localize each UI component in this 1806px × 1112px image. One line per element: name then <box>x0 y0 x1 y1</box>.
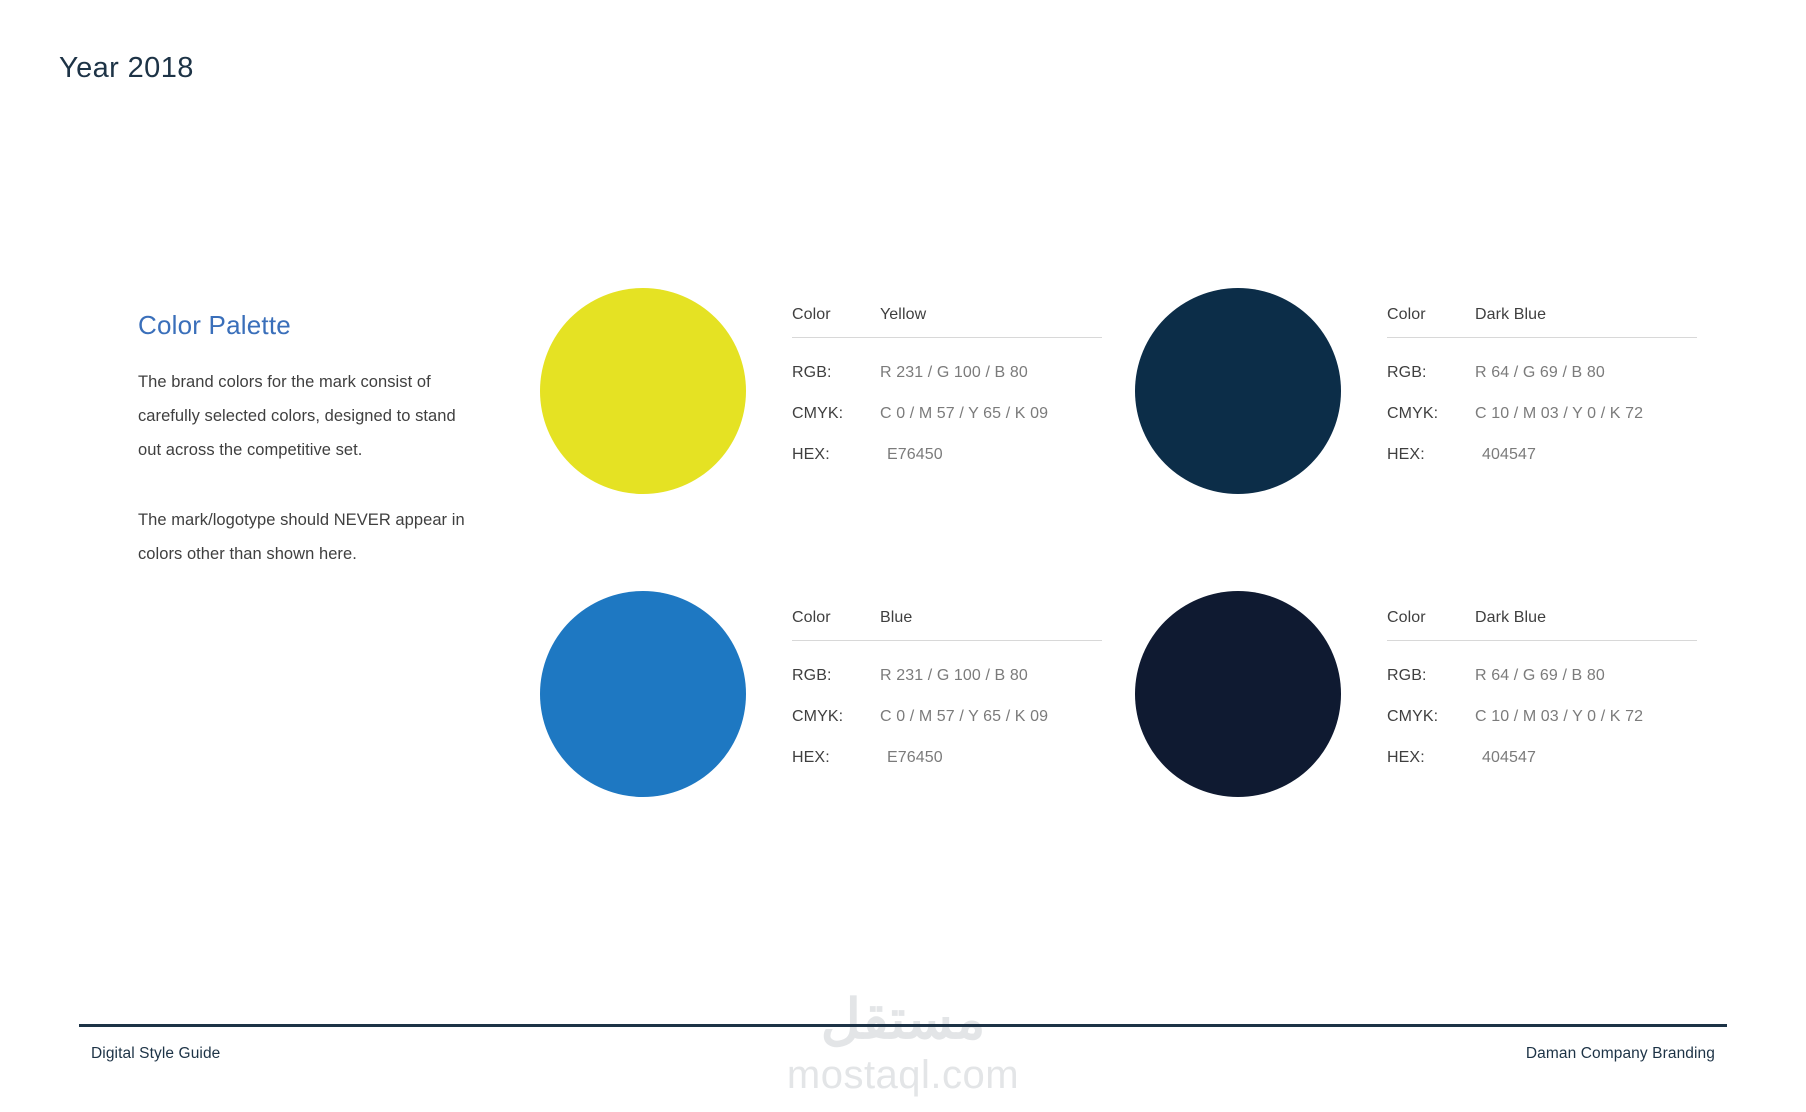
spec-header: Color Dark Blue <box>1387 306 1697 338</box>
spec-value-color-name: Dark Blue <box>1475 609 1546 627</box>
watermark-logo: مستقل mostaql.com <box>0 988 1806 1098</box>
spec-label-hex: HEX: <box>1387 446 1475 464</box>
spec-value-rgb: R 64 / G 69 / B 80 <box>1475 364 1605 382</box>
page-title: Year 2018 <box>59 52 194 85</box>
section-heading: Color Palette <box>138 310 468 341</box>
watermark-arabic-text: مستقل <box>821 988 986 1050</box>
color-circle-yellow <box>540 288 746 494</box>
intro-paragraph-2: The mark/logotype should NEVER appear in… <box>138 503 468 571</box>
spec-label-color: Color <box>1387 306 1475 324</box>
color-spec-yellow: Color Yellow RGB: R 231 / G 100 / B 80 C… <box>792 306 1102 464</box>
spec-label-cmyk: CMYK: <box>1387 708 1475 726</box>
spec-label-rgb: RGB: <box>1387 667 1475 685</box>
color-circle-dark-blue-top <box>1135 288 1341 494</box>
spec-value-hex: E76450 <box>880 749 943 767</box>
style-guide-page: Year 2018 Color Palette The brand colors… <box>0 0 1806 1112</box>
spec-label-rgb: RGB: <box>792 364 880 382</box>
spec-row-hex: HEX: 404547 <box>1387 749 1697 767</box>
spec-row-hex: HEX: E76450 <box>792 446 1102 464</box>
spec-label-hex: HEX: <box>792 446 880 464</box>
spec-value-cmyk: C 10 / M 03 / Y 0 / K 72 <box>1475 405 1643 423</box>
footer-left-label: Digital Style Guide <box>91 1045 220 1063</box>
spec-row-rgb: RGB: R 231 / G 100 / B 80 <box>792 667 1102 685</box>
spec-row-hex: HEX: E76450 <box>792 749 1102 767</box>
spec-label-cmyk: CMYK: <box>1387 405 1475 423</box>
spec-row-cmyk: CMYK: C 10 / M 03 / Y 0 / K 72 <box>1387 708 1697 726</box>
color-circle-blue <box>540 591 746 797</box>
spec-label-color: Color <box>1387 609 1475 627</box>
spec-value-hex: E76450 <box>880 446 943 464</box>
spec-value-hex: 404547 <box>1475 749 1536 767</box>
spec-row-rgb: RGB: R 64 / G 69 / B 80 <box>1387 667 1697 685</box>
intro-block: Color Palette The brand colors for the m… <box>138 310 468 571</box>
spec-value-hex: 404547 <box>1475 446 1536 464</box>
spec-value-rgb: R 231 / G 100 / B 80 <box>880 667 1028 685</box>
swatch-cell-blue: Color Blue RGB: R 231 / G 100 / B 80 CMY… <box>540 591 1135 797</box>
intro-paragraph-1: The brand colors for the mark consist of… <box>138 365 468 467</box>
color-swatch-grid: Color Yellow RGB: R 231 / G 100 / B 80 C… <box>540 288 1730 797</box>
spec-row-hex: HEX: 404547 <box>1387 446 1697 464</box>
spec-label-hex: HEX: <box>792 749 880 767</box>
color-circle-dark-blue-bottom <box>1135 591 1341 797</box>
spec-label-rgb: RGB: <box>1387 364 1475 382</box>
footer-divider <box>79 1024 1727 1027</box>
footer-right-label: Daman Company Branding <box>1526 1045 1715 1063</box>
spec-value-color-name: Blue <box>880 609 912 627</box>
spec-label-rgb: RGB: <box>792 667 880 685</box>
spec-header: Color Yellow <box>792 306 1102 338</box>
spec-row-cmyk: CMYK: C 0 / M 57 / Y 65 / K 09 <box>792 708 1102 726</box>
spec-row-rgb: RGB: R 64 / G 69 / B 80 <box>1387 364 1697 382</box>
color-spec-dark-blue-top: Color Dark Blue RGB: R 64 / G 69 / B 80 … <box>1387 306 1697 464</box>
spec-value-cmyk: C 0 / M 57 / Y 65 / K 09 <box>880 708 1048 726</box>
swatch-cell-yellow: Color Yellow RGB: R 231 / G 100 / B 80 C… <box>540 288 1135 494</box>
spec-label-cmyk: CMYK: <box>792 405 880 423</box>
spec-row-rgb: RGB: R 231 / G 100 / B 80 <box>792 364 1102 382</box>
swatch-cell-dark-blue-bottom: Color Dark Blue RGB: R 64 / G 69 / B 80 … <box>1135 591 1730 797</box>
spec-label-cmyk: CMYK: <box>792 708 880 726</box>
color-spec-dark-blue-bottom: Color Dark Blue RGB: R 64 / G 69 / B 80 … <box>1387 609 1697 767</box>
spec-value-cmyk: C 0 / M 57 / Y 65 / K 09 <box>880 405 1048 423</box>
spec-value-color-name: Yellow <box>880 306 926 324</box>
swatch-row: Color Yellow RGB: R 231 / G 100 / B 80 C… <box>540 288 1730 494</box>
spec-value-color-name: Dark Blue <box>1475 306 1546 324</box>
color-spec-blue: Color Blue RGB: R 231 / G 100 / B 80 CMY… <box>792 609 1102 767</box>
spec-value-rgb: R 64 / G 69 / B 80 <box>1475 667 1605 685</box>
spec-header: Color Dark Blue <box>1387 609 1697 641</box>
swatch-cell-dark-blue-top: Color Dark Blue RGB: R 64 / G 69 / B 80 … <box>1135 288 1730 494</box>
spec-label-hex: HEX: <box>1387 749 1475 767</box>
swatch-row: Color Blue RGB: R 231 / G 100 / B 80 CMY… <box>540 591 1730 797</box>
spec-header: Color Blue <box>792 609 1102 641</box>
spec-label-color: Color <box>792 306 880 324</box>
spec-row-cmyk: CMYK: C 10 / M 03 / Y 0 / K 72 <box>1387 405 1697 423</box>
spec-value-cmyk: C 10 / M 03 / Y 0 / K 72 <box>1475 708 1643 726</box>
watermark-latin-text: mostaql.com <box>787 1052 1019 1098</box>
spec-label-color: Color <box>792 609 880 627</box>
spec-value-rgb: R 231 / G 100 / B 80 <box>880 364 1028 382</box>
spec-row-cmyk: CMYK: C 0 / M 57 / Y 65 / K 09 <box>792 405 1102 423</box>
